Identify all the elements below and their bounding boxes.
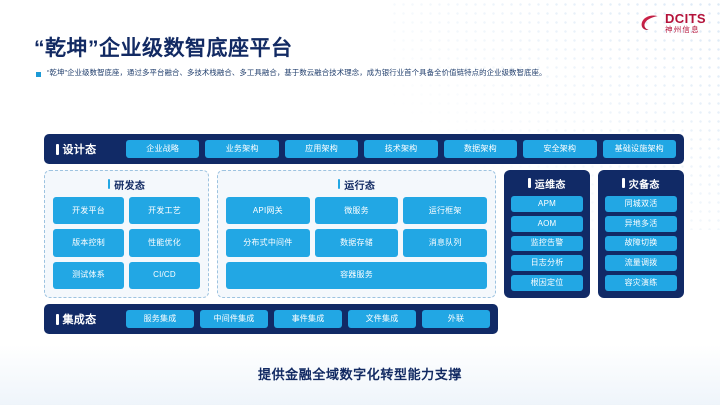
subtitle-row: “乾坤”企业级数智底座，通过多平台融合、多技术栈融合、多工具融合，基于数云融合技…	[36, 68, 547, 78]
subtitle-text: “乾坤”企业级数智底座，通过多平台融合、多技术栈融合、多工具融合，基于数云融合技…	[47, 68, 547, 78]
chip-ops-2[interactable]: 监控告警	[511, 236, 583, 252]
band-design: 设计态 企业战略 业务架构 应用架构 技术架构 数据架构 安全架构 基础设施架构	[44, 134, 684, 164]
chip-ops-1[interactable]: AOM	[511, 216, 583, 232]
chip-design-1[interactable]: 业务架构	[205, 140, 278, 158]
chip-dev-1-0[interactable]: 版本控制	[53, 229, 124, 256]
chip-dev-2-0[interactable]: 测试体系	[53, 262, 124, 289]
footer-tagline: 提供金融全域数字化转型能力支撑	[0, 364, 720, 383]
chip-run-0-0[interactable]: API网关	[226, 197, 310, 224]
panel-run-grid: API网关 微服务 运行框架 分布式中间件 数据存储 消息队列 容器服务	[226, 197, 487, 289]
chip-dev-1-1[interactable]: 性能优化	[129, 229, 200, 256]
chip-integration-1[interactable]: 中间件集成	[200, 310, 268, 328]
chip-dr-2[interactable]: 故障切换	[605, 236, 677, 252]
chip-run-1-0[interactable]: 分布式中间件	[226, 229, 310, 256]
panel-dev-grid: 开发平台 开发工艺 版本控制 性能优化 测试体系 CI/CD	[53, 197, 200, 289]
band-integration-label: 集成态	[63, 311, 97, 327]
panel-dev-row-1: 版本控制 性能优化	[53, 229, 200, 256]
chip-design-3[interactable]: 技术架构	[364, 140, 437, 158]
panel-dev-row-0: 开发平台 开发工艺	[53, 197, 200, 224]
chip-run-1-2[interactable]: 消息队列	[403, 229, 487, 256]
chip-dr-0[interactable]: 同城双活	[605, 196, 677, 212]
column-dr: 灾备态 同城双活 异地多活 故障切换 流量调拨 容灾演练	[598, 170, 684, 298]
panel-dev-header: 研发态	[53, 177, 200, 191]
brand-logo: DCITS 神州信息	[639, 12, 706, 34]
dcits-swoosh-icon	[639, 12, 661, 34]
chip-ops-0[interactable]: APM	[511, 196, 583, 212]
chip-design-6[interactable]: 基础设施架构	[603, 140, 676, 158]
chip-dev-0-0[interactable]: 开发平台	[53, 197, 124, 224]
column-dr-label: 灾备态	[629, 176, 660, 191]
tick-marker-icon	[56, 144, 59, 155]
chip-run-0-1[interactable]: 微服务	[315, 197, 399, 224]
column-dr-header: 灾备态	[605, 176, 677, 190]
band-design-label: 设计态	[63, 141, 97, 157]
logo-text-en: DCITS	[665, 12, 706, 25]
band-integration: 集成态 服务集成 中间件集成 事件集成 文件集成 外联	[44, 304, 498, 334]
diagram-middle-row: 研发态 开发平台 开发工艺 版本控制 性能优化 测试体系 CI/CD	[44, 170, 684, 298]
column-dr-items: 同城双活 异地多活 故障切换 流量调拨 容灾演练	[605, 196, 677, 291]
chip-design-2[interactable]: 应用架构	[285, 140, 358, 158]
chip-run-1-1[interactable]: 数据存储	[315, 229, 399, 256]
chip-dr-4[interactable]: 容灾演练	[605, 275, 677, 291]
band-design-title: 设计态	[52, 141, 124, 157]
chip-run-0-2[interactable]: 运行框架	[403, 197, 487, 224]
panel-run-row-0: API网关 微服务 运行框架	[226, 197, 487, 224]
panel-dev: 研发态 开发平台 开发工艺 版本控制 性能优化 测试体系 CI/CD	[44, 170, 209, 298]
chip-dev-2-1[interactable]: CI/CD	[129, 262, 200, 289]
chip-dr-3[interactable]: 流量调拨	[605, 255, 677, 271]
band-integration-chips: 服务集成 中间件集成 事件集成 文件集成 外联	[126, 310, 490, 328]
panel-run-row-1: 分布式中间件 数据存储 消息队列	[226, 229, 487, 256]
chip-integration-4[interactable]: 外联	[422, 310, 490, 328]
tick-marker-icon	[56, 314, 59, 325]
tick-marker-icon	[108, 179, 111, 189]
column-ops-items: APM AOM 监控告警 日志分析 根因定位	[511, 196, 583, 291]
panel-run: 运行态 API网关 微服务 运行框架 分布式中间件 数据存储 消息队列 容器服务	[217, 170, 496, 298]
slide-canvas: DCITS 神州信息 “乾坤”企业级数智底座平台 “乾坤”企业级数智底座，通过多…	[0, 0, 720, 405]
band-integration-title: 集成态	[52, 311, 124, 327]
column-ops-header: 运维态	[511, 176, 583, 190]
chip-design-4[interactable]: 数据架构	[444, 140, 517, 158]
chip-integration-2[interactable]: 事件集成	[274, 310, 342, 328]
chip-integration-0[interactable]: 服务集成	[126, 310, 194, 328]
tick-marker-icon	[622, 178, 625, 188]
chip-ops-3[interactable]: 日志分析	[511, 255, 583, 271]
chip-integration-3[interactable]: 文件集成	[348, 310, 416, 328]
chip-dr-1[interactable]: 异地多活	[605, 216, 677, 232]
column-ops: 运维态 APM AOM 监控告警 日志分析 根因定位	[504, 170, 590, 298]
chip-dev-0-1[interactable]: 开发工艺	[129, 197, 200, 224]
bullet-square-icon	[36, 72, 41, 77]
logo-text-cn: 神州信息	[665, 26, 706, 34]
chip-ops-4[interactable]: 根因定位	[511, 275, 583, 291]
panel-run-row-2: 容器服务	[226, 262, 487, 289]
page-title: “乾坤”企业级数智底座平台	[34, 32, 293, 62]
tick-marker-icon	[528, 178, 531, 188]
tick-marker-icon	[338, 179, 341, 189]
band-design-chips: 企业战略 业务架构 应用架构 技术架构 数据架构 安全架构 基础设施架构	[126, 140, 676, 158]
panel-dev-label: 研发态	[114, 177, 145, 192]
panel-dev-row-2: 测试体系 CI/CD	[53, 262, 200, 289]
architecture-diagram: 设计态 企业战略 业务架构 应用架构 技术架构 数据架构 安全架构 基础设施架构…	[44, 134, 684, 344]
panel-run-label: 运行态	[344, 177, 375, 192]
chip-run-2-0[interactable]: 容器服务	[226, 262, 487, 289]
column-ops-label: 运维态	[535, 176, 566, 191]
chip-design-5[interactable]: 安全架构	[523, 140, 596, 158]
chip-design-0[interactable]: 企业战略	[126, 140, 199, 158]
panel-run-header: 运行态	[226, 177, 487, 191]
